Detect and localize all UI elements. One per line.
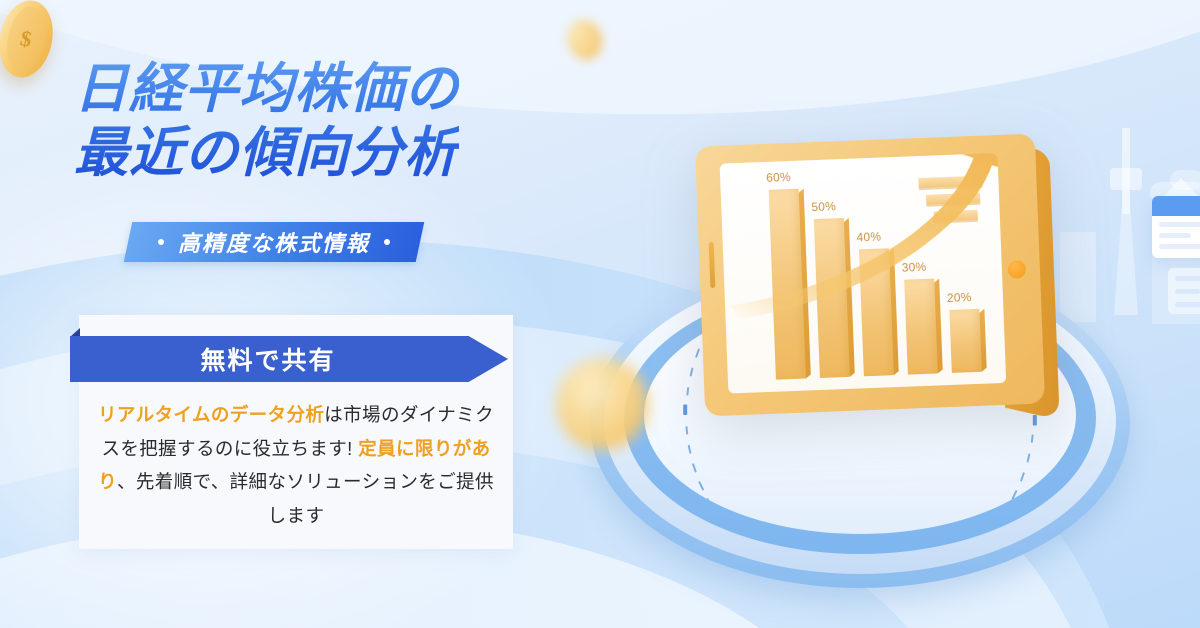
document-card-line: [1159, 222, 1200, 227]
dial-tick: [685, 426, 688, 434]
dial-tick: [690, 367, 694, 376]
document-card-line: [1175, 276, 1200, 281]
subtitle-badge: 高精度な株式情報: [124, 222, 425, 262]
tablet-illustration: 60%50%40%30%20%: [695, 134, 1045, 417]
dial-tick: [1026, 453, 1030, 462]
coin-icon-left: [556, 358, 648, 450]
card-body-text: リアルタイムのデータ分析は市場のダイナミクスを把握するのに役立ちます! 定員に限…: [95, 398, 497, 533]
dial-tick: [688, 445, 692, 454]
dial-tick: [692, 463, 697, 473]
dial-tick: [1031, 434, 1034, 442]
dial-tick: [698, 481, 704, 491]
body-text-plain: 、先着順で、詳細なソリューションをご提供します: [117, 471, 494, 526]
dial-tick: [686, 387, 689, 395]
headline-line-2: 最近の傾向分析: [74, 122, 459, 186]
subtitle-badge-label: 高精度な株式情報: [178, 226, 370, 258]
document-card-header: [1152, 196, 1200, 216]
document-card-line: [1159, 233, 1191, 238]
document-card-icon: [1152, 196, 1200, 258]
tower-pod-icon: [1110, 168, 1142, 190]
bullet-dot-icon-left: [158, 239, 164, 245]
dial-tick: [1033, 415, 1037, 426]
dial-tick: [1020, 472, 1025, 482]
bullet-dot-icon-right: [384, 239, 390, 245]
currency-symbol: $: [18, 25, 34, 53]
page-title: 日経平均株価の 最近の傾向分析: [74, 58, 459, 185]
body-text-highlight: リアルタイムのデータ分析: [98, 404, 324, 425]
growth-arrow-icon: [720, 153, 1007, 344]
promo-banner: 60%50%40%30%20% $ 日経平均株価の 最近の: [0, 0, 1200, 628]
document-card-line: [1159, 244, 1200, 249]
dial-tick: [695, 348, 700, 358]
document-card-line: [1175, 289, 1200, 294]
document-card-line: [1175, 302, 1200, 307]
ribbon-label: 無料で共有: [200, 341, 335, 377]
tablet-screen: 60%50%40%30%20%: [720, 153, 1007, 394]
document-card-icon-2: [1168, 268, 1200, 314]
dial-tick: [683, 405, 687, 416]
share-ribbon[interactable]: 無料で共有: [70, 336, 508, 382]
headline-line-1: 日経平均株価の: [74, 59, 459, 119]
